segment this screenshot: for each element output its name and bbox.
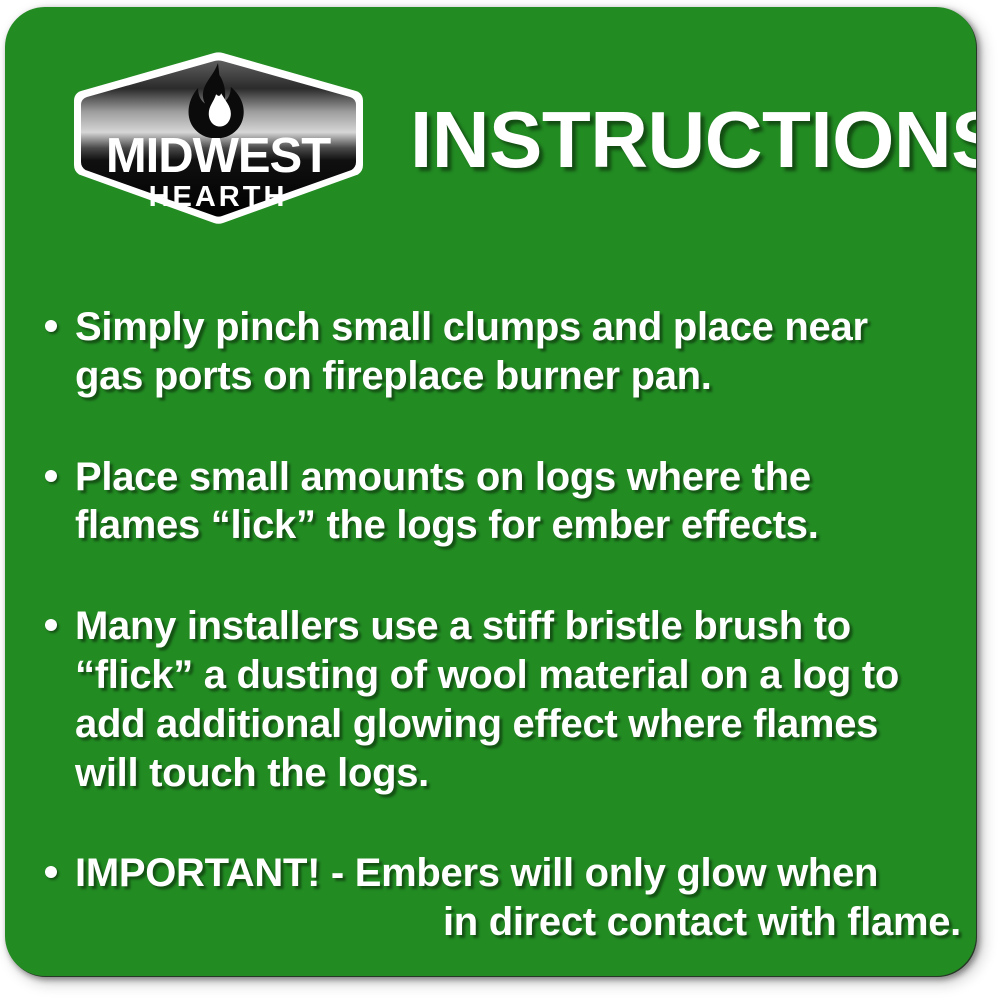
- bullet-line: gas ports on fireplace burner pan.: [75, 352, 961, 401]
- bullet-line: Simply pinch small clumps and place near: [75, 303, 961, 352]
- page-title: INSTRUCTIONS: [410, 100, 970, 180]
- bullet-line: add additional glowing effect where flam…: [75, 700, 961, 749]
- bullet-dot-icon: [45, 320, 57, 332]
- bullet-place-on-logs: Place small amounts on logs where the fl…: [41, 453, 961, 551]
- instructions-bullet-list: Simply pinch small clumps and place near…: [41, 303, 961, 947]
- bullet-pinch-clumps: Simply pinch small clumps and place near…: [41, 303, 961, 401]
- bullet-line: IMPORTANT! - Embers will only glow when: [75, 849, 961, 898]
- bullet-dot-icon: [45, 866, 57, 878]
- logo-brand-line1: MIDWEST: [106, 129, 331, 183]
- bullet-line: Many installers use a stiff bristle brus…: [75, 602, 961, 651]
- bullet-line: Place small amounts on logs where the: [75, 453, 961, 502]
- bullet-bristle-brush: Many installers use a stiff bristle brus…: [41, 602, 961, 797]
- logo-brand-line2: HEARTH: [149, 181, 288, 213]
- bullet-line: “flick” a dusting of wool material on a …: [75, 651, 961, 700]
- instruction-card-container: MIDWEST HEARTH INSTRUCTIONS Simply pinch…: [0, 0, 1000, 1000]
- green-instruction-panel: MIDWEST HEARTH INSTRUCTIONS Simply pinch…: [5, 7, 976, 976]
- bullet-dot-icon: [45, 470, 57, 482]
- bullet-line: will touch the logs.: [75, 749, 961, 798]
- midwest-hearth-logo: MIDWEST HEARTH: [71, 47, 366, 229]
- bullet-line: in direct contact with flame.: [75, 898, 961, 947]
- bullet-important: IMPORTANT! - Embers will only glow when …: [41, 849, 961, 947]
- bullet-line: flames “lick” the logs for ember effects…: [75, 501, 961, 550]
- bullet-dot-icon: [45, 619, 57, 631]
- card-header: MIDWEST HEARTH INSTRUCTIONS: [5, 7, 976, 242]
